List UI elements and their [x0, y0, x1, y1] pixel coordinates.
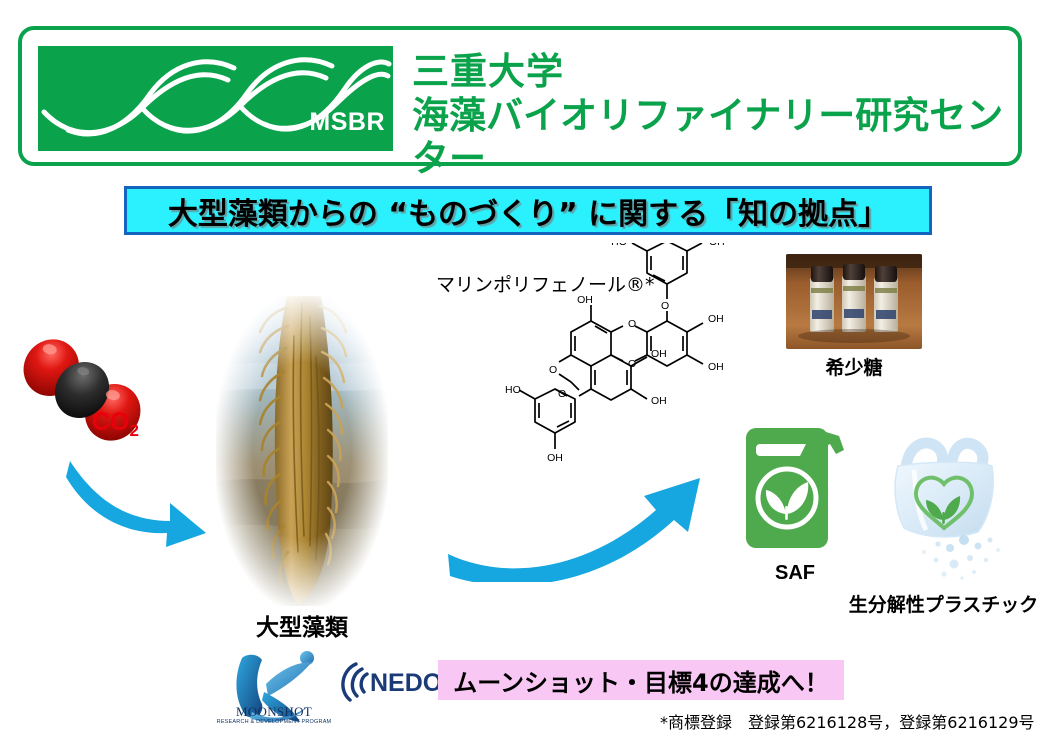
- svg-text:OH: OH: [577, 294, 593, 306]
- moonshot-wordmark: MOONSHOT: [218, 704, 330, 720]
- seaweed-photo: [216, 296, 388, 606]
- nedo-wordmark: NEDO: [370, 669, 438, 697]
- center-name: 海藻バイオリファイナリー研究センター: [412, 94, 1018, 181]
- svg-text:OH: OH: [708, 313, 724, 325]
- co2-label: CO2: [92, 408, 139, 441]
- title-banner-text: 大型藻類からの “ものづくり” に関する「知の拠点」: [168, 189, 888, 233]
- poster-root: MSBR 三重大学 海藻バイオリファイナリー研究センター 大型藻類からの “もの…: [0, 0, 1057, 734]
- co2-label-text: CO: [92, 408, 130, 436]
- svg-text:OH: OH: [651, 348, 667, 360]
- moonshot-goal-banner: ムーンショット・目標4の達成へ！: [438, 660, 844, 700]
- svg-text:OH: OH: [708, 361, 724, 373]
- arrow-co2-to-seaweed: [66, 455, 211, 547]
- saf-label: SAF: [740, 562, 850, 585]
- seaweed-label: 大型藻類: [216, 608, 388, 642]
- svg-text:O: O: [549, 364, 557, 376]
- msbr-wordmark: MSBR: [309, 108, 385, 137]
- svg-text:HO: HO: [611, 243, 627, 248]
- biodegradable-plastic-label: 生分解性プラスチック: [836, 590, 1051, 617]
- svg-text:O: O: [661, 300, 669, 312]
- nedo-logo-icon: NEDO: [334, 658, 438, 704]
- biodegradable-plastic-bag-icon: [878, 436, 1034, 586]
- university-name: 三重大学: [412, 50, 1018, 94]
- co2-label-subscript: 2: [130, 421, 139, 440]
- svg-text:OH: OH: [651, 395, 667, 407]
- title-banner: 大型藻類からの “ものづくり” に関する「知の拠点」: [124, 186, 932, 235]
- svg-text:OH: OH: [709, 243, 725, 248]
- saf-jerrycan-icon: [740, 414, 850, 559]
- msbr-seaweed-logo-mark: MSBR: [38, 46, 393, 151]
- svg-text:O: O: [628, 358, 636, 370]
- header-logo-box: MSBR 三重大学 海藻バイオリファイナリー研究センター: [18, 26, 1022, 166]
- arrow-to-products: [448, 462, 718, 582]
- svg-text:O: O: [628, 318, 636, 330]
- trademark-footnote: *商標登録 登録第6216128号，登録第6216129号: [660, 709, 1050, 733]
- moonshot-subtitle: RESEARCH & DEVELOPMENT PROGRAM: [214, 719, 334, 725]
- rare-sugar-label: 希少糖: [786, 353, 922, 380]
- institution-name: 三重大学 海藻バイオリファイナリー研究センター: [412, 50, 1018, 181]
- rare-sugar-photo: [786, 254, 922, 349]
- svg-text:O: O: [558, 388, 566, 400]
- moonshot-goal-text: ムーンショット・目標4の達成へ！: [453, 663, 829, 698]
- svg-text:HO: HO: [505, 384, 521, 396]
